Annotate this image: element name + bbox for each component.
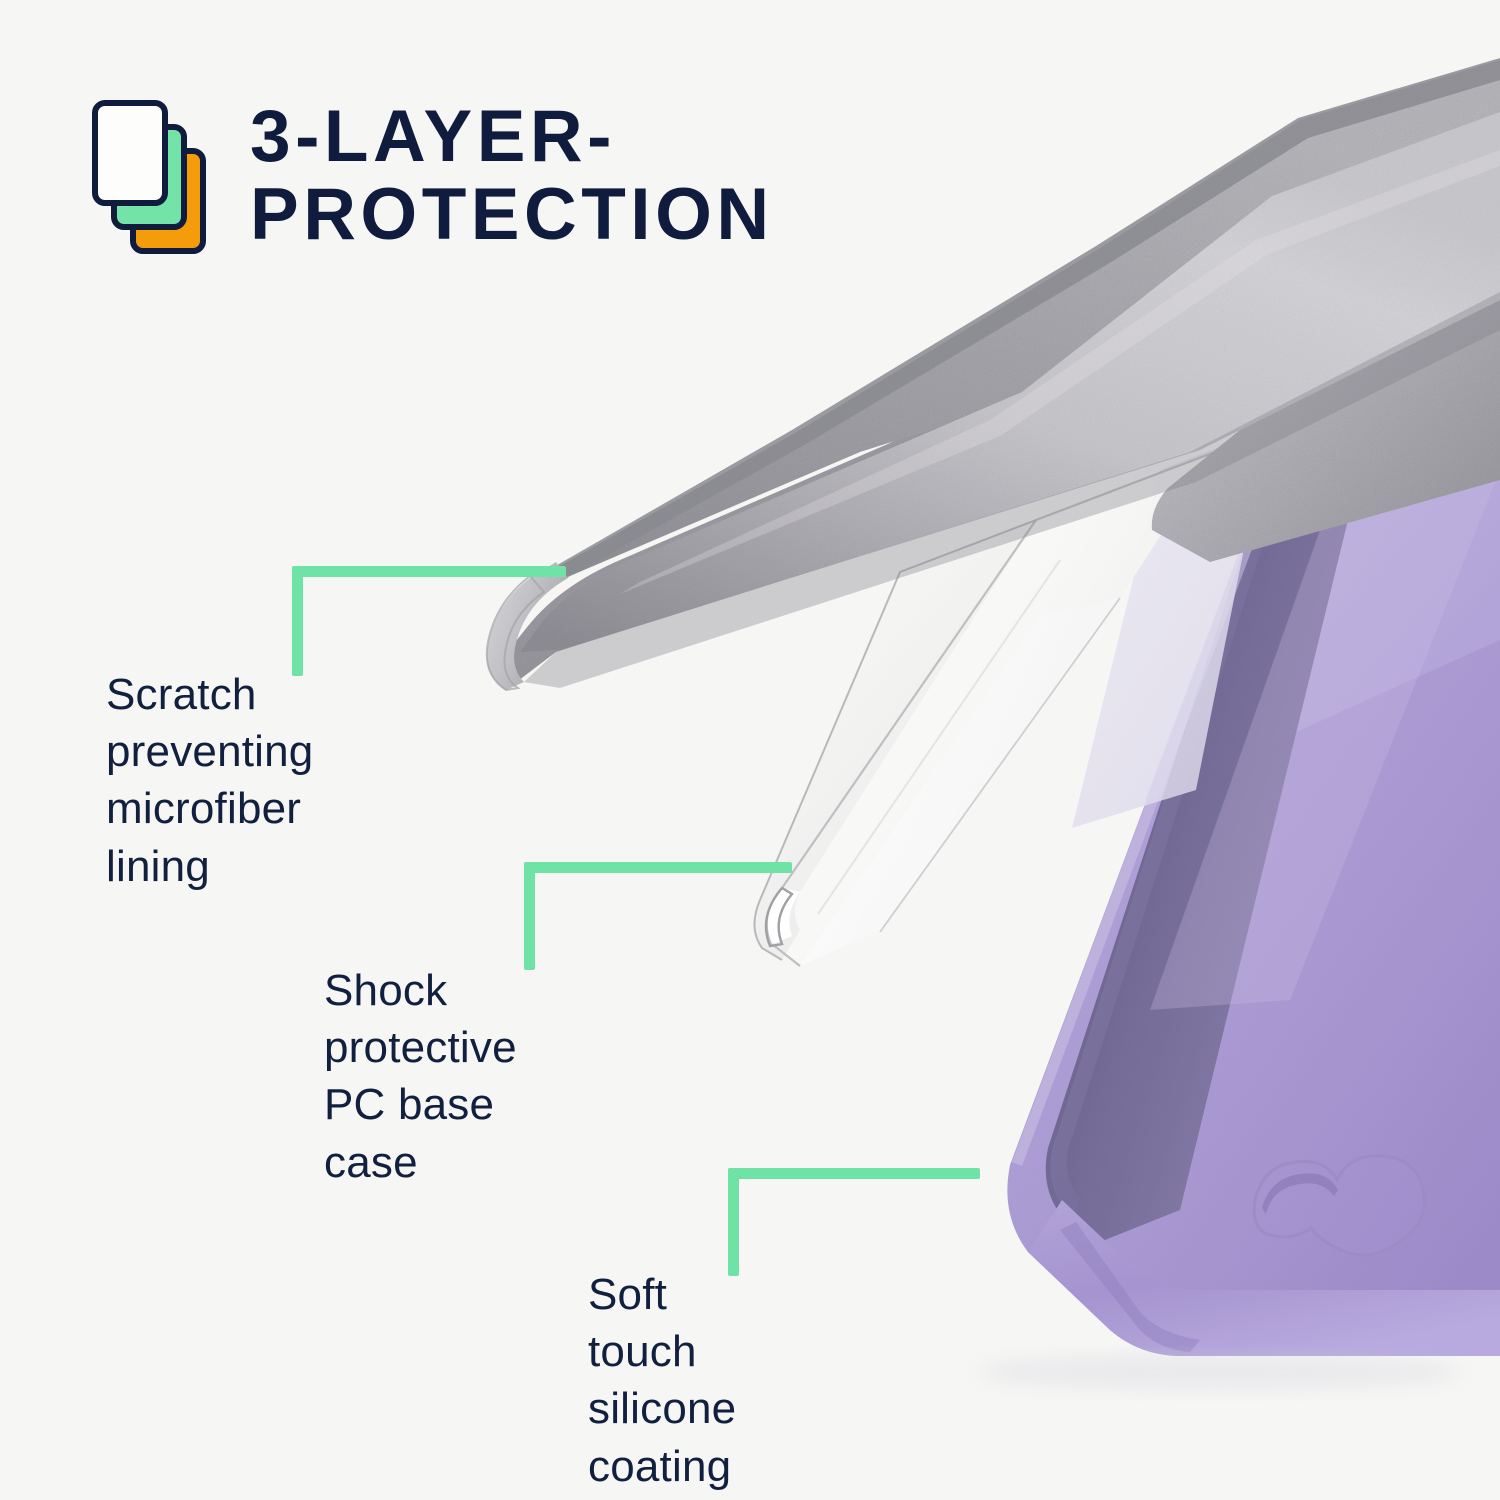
leader-line-horizontal xyxy=(728,1168,980,1179)
stack-card-front-icon xyxy=(92,100,168,206)
infographic-canvas: 3-LAYER- PROTECTION Scratch preventing m… xyxy=(0,0,1500,1500)
header: 3-LAYER- PROTECTION xyxy=(92,92,774,262)
leader-line-vertical xyxy=(728,1168,739,1276)
callout-label-silicone-coating: Soft touch silicone coating xyxy=(588,1266,736,1495)
three-layer-stack-icon xyxy=(92,100,214,262)
leader-line-horizontal xyxy=(524,862,792,873)
leader-line-vertical xyxy=(292,566,303,676)
leader-line-vertical xyxy=(524,862,535,970)
page-title: 3-LAYER- PROTECTION xyxy=(250,92,774,254)
callout-label-pc-base-case: Shock protective PC base case xyxy=(324,962,524,1191)
callout-label-microfiber: Scratch preventing microfiber lining xyxy=(106,666,313,895)
leader-line-horizontal xyxy=(292,566,566,577)
